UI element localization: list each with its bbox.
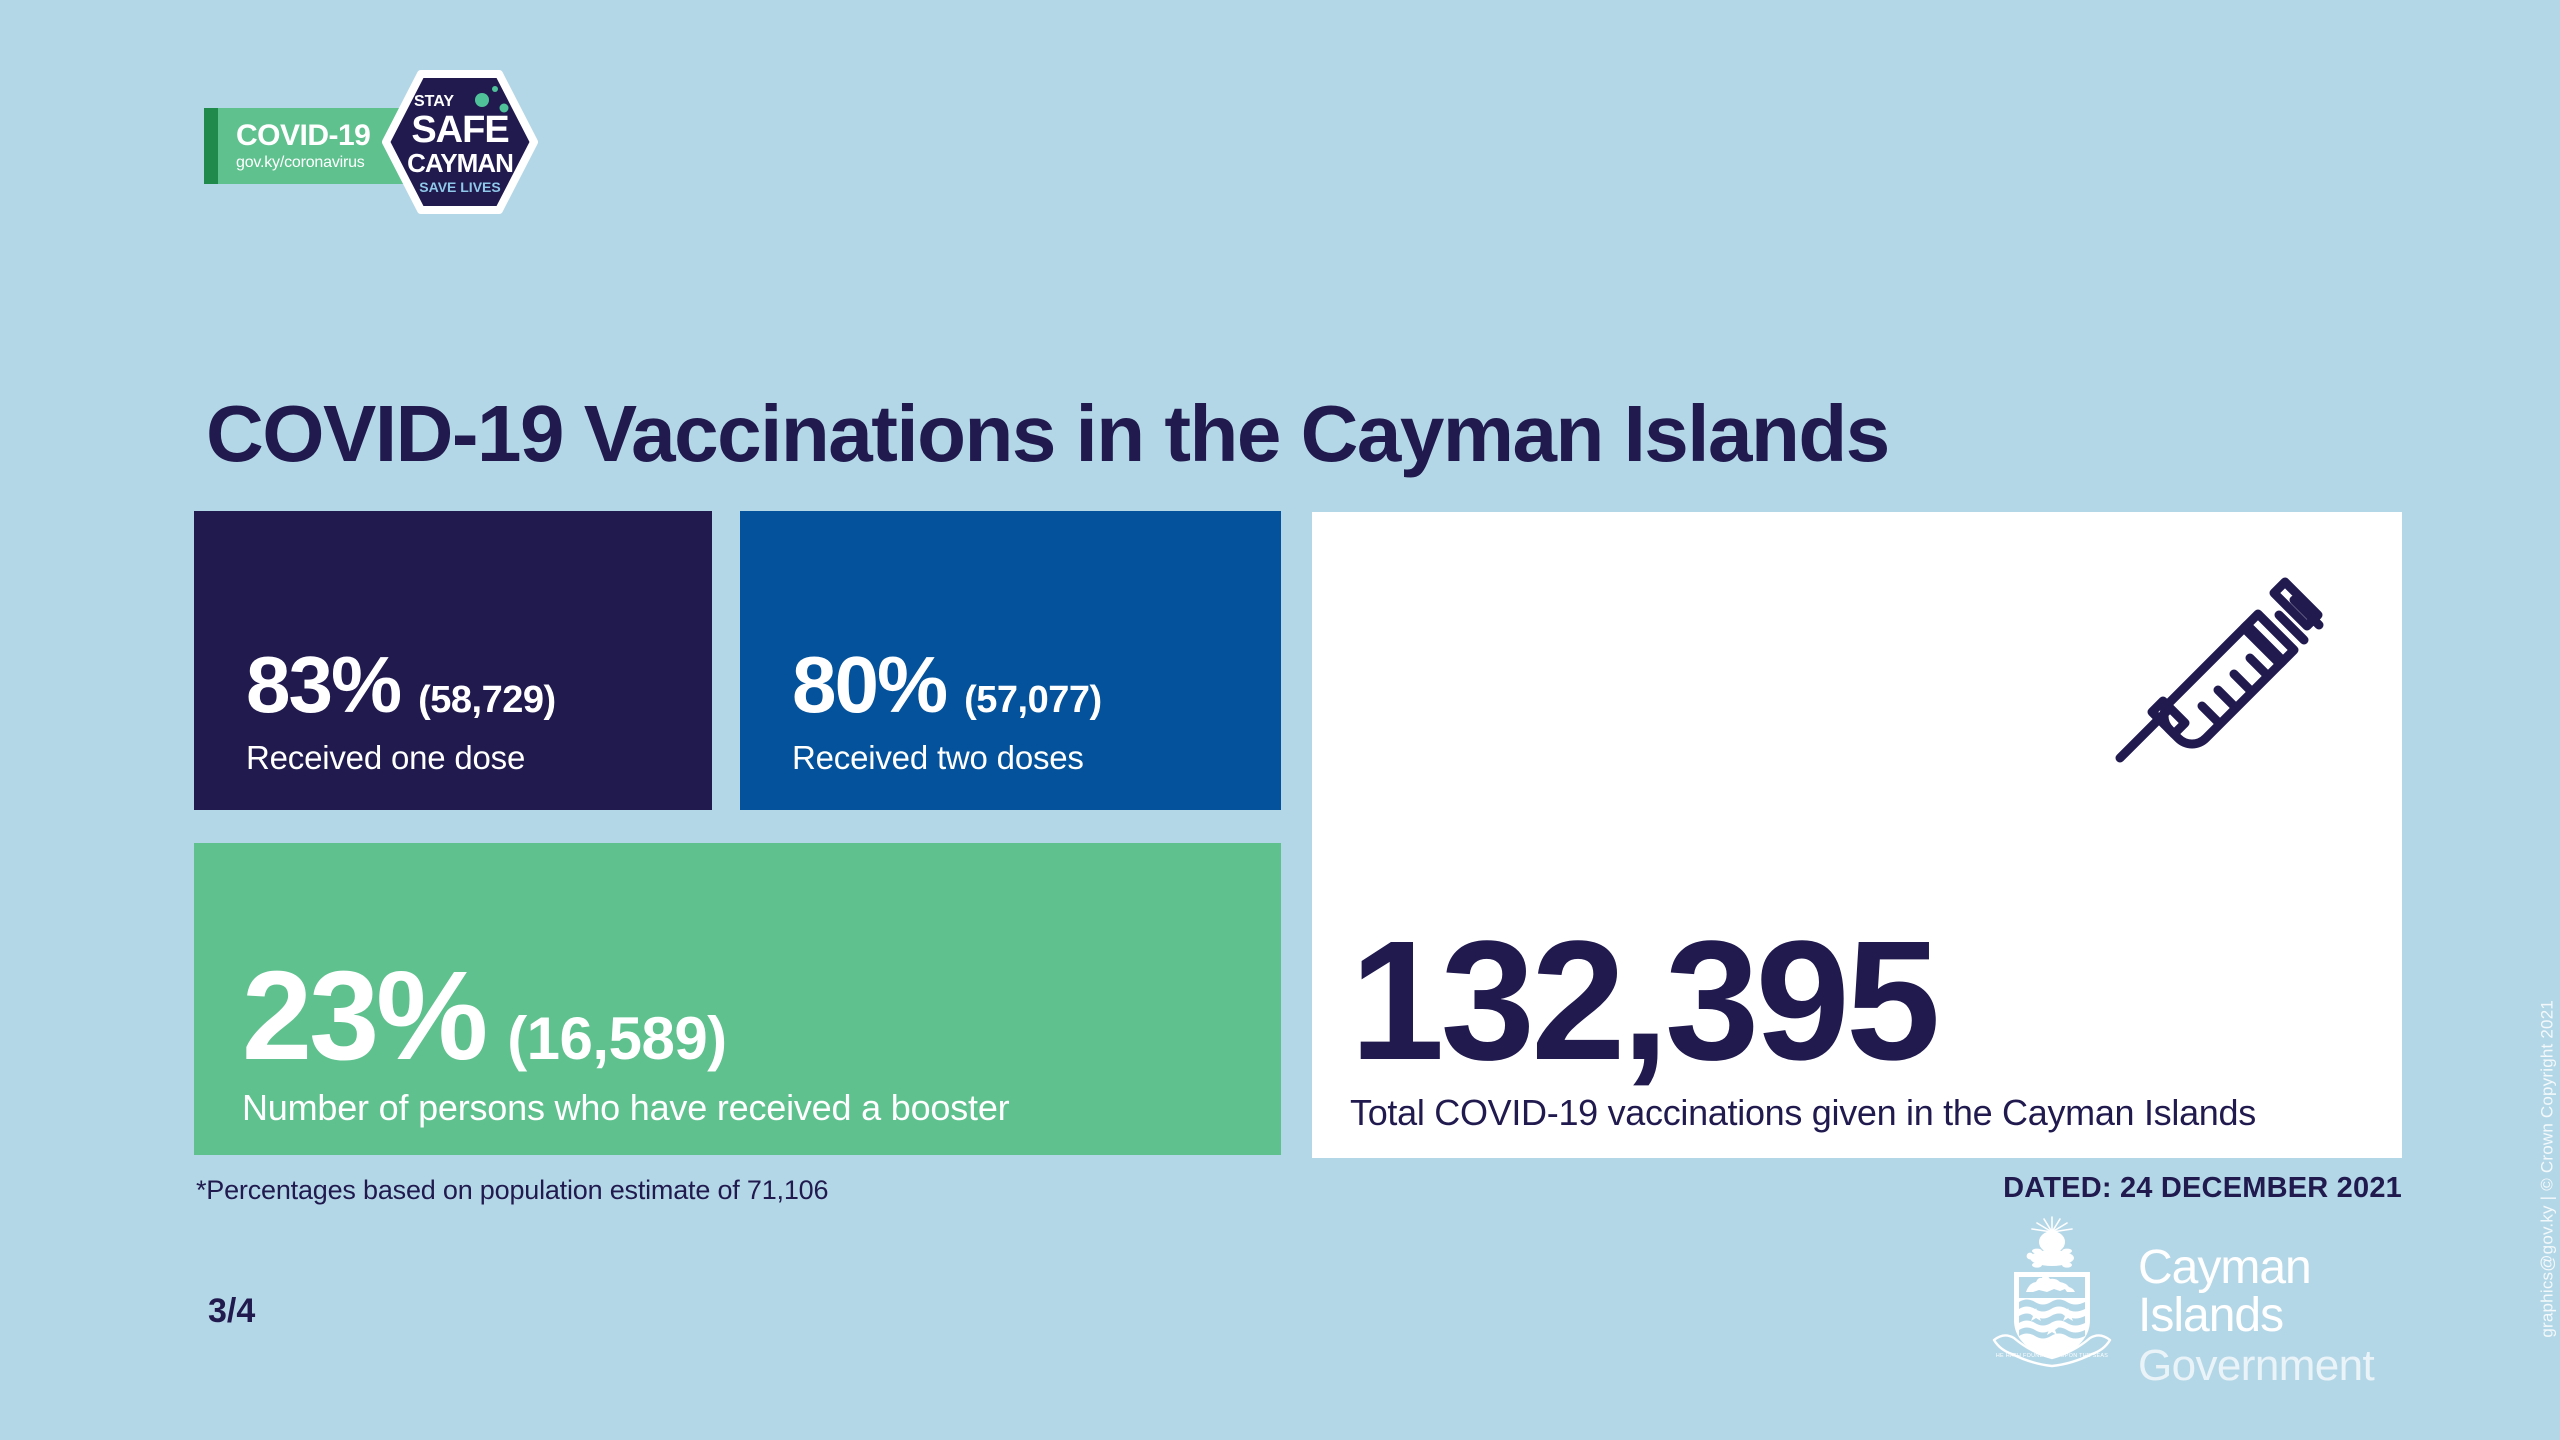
page-title: COVID-19 Vaccinations in the Cayman Isla…	[206, 394, 2406, 474]
cig-name: Cayman Islands	[2138, 1244, 2410, 1340]
syringe-icon	[2108, 560, 2338, 770]
stat-percent: 23%	[242, 953, 485, 1079]
stat-card-content: 83% (58,729) Received one dose	[246, 645, 698, 776]
svg-text:SAFE: SAFE	[411, 109, 508, 151]
svg-text:CAYMAN: CAYMAN	[407, 148, 513, 178]
covid-bar-text: COVID-19 gov.ky/coronavirus	[236, 121, 370, 171]
stat-card-content: 23% (16,589) Number of persons who have …	[242, 953, 1267, 1127]
side-credit: graphics@gov.ky | © Crown Copyright 2021	[2538, 1000, 2558, 1338]
svg-text:STAY: STAY	[414, 93, 454, 110]
stat-card-content: 80% (57,077) Received two doses	[792, 645, 1267, 776]
crest-motto: HE HATH FOUNDED IT UPON THE SEAS	[1996, 1353, 2108, 1359]
svg-text:SAVE LIVES: SAVE LIVES	[419, 179, 500, 195]
dated-label: DATED: 24 DECEMBER 2021	[2003, 1172, 2402, 1205]
stat-percent: 80%	[792, 645, 946, 725]
stat-count: (16,589)	[507, 1009, 726, 1069]
stat-label: Number of persons who have received a bo…	[242, 1089, 1267, 1127]
cig-subtitle: Government	[2138, 1344, 2410, 1388]
stat-card-booster: 23% (16,589) Number of persons who have …	[194, 843, 1281, 1155]
page-number: 3/4	[208, 1292, 255, 1331]
stat-percent: 83%	[246, 645, 400, 725]
covid-bar-title: COVID-19	[236, 121, 370, 151]
stat-card-one-dose: 83% (58,729) Received one dose	[194, 511, 712, 810]
total-vaccinations-caption: Total COVID-19 vaccinations given in the…	[1350, 1092, 2378, 1134]
stat-label: Received one dose	[246, 741, 698, 776]
stat-count: (57,077)	[964, 681, 1102, 719]
covid-safe-cayman-logo: COVID-19 gov.ky/coronavirus STAY SAFE CA…	[204, 70, 604, 210]
stat-card-two-doses: 80% (57,077) Received two doses	[740, 511, 1281, 810]
stat-count: (58,729)	[418, 681, 556, 719]
covid-bar-url: gov.ky/coronavirus	[236, 155, 370, 171]
cig-wordmark: Cayman Islands Government	[2138, 1244, 2410, 1388]
population-footnote: *Percentages based on population estimat…	[196, 1175, 828, 1206]
stat-value-row: 83% (58,729)	[246, 645, 698, 725]
stay-safe-cayman-hex-badge: STAY SAFE CAYMAN SAVE LIVES	[382, 70, 538, 214]
cayman-islands-government-logo: HE HATH FOUNDED IT UPON THE SEAS Cayman …	[1990, 1218, 2410, 1368]
total-vaccinations-panel: 132,395 Total COVID-19 vaccinations give…	[1312, 512, 2402, 1158]
stat-label: Received two doses	[792, 741, 1267, 776]
total-content: 132,395 Total COVID-19 vaccinations give…	[1350, 916, 2378, 1134]
stat-value-row: 80% (57,077)	[792, 645, 1267, 725]
stat-value-row: 23% (16,589)	[242, 953, 1267, 1079]
cayman-crest-icon: HE HATH FOUNDED IT UPON THE SEAS	[1990, 1216, 2114, 1368]
covid-bar-accent	[204, 108, 218, 184]
total-vaccinations-number: 132,395	[1350, 916, 2378, 1086]
